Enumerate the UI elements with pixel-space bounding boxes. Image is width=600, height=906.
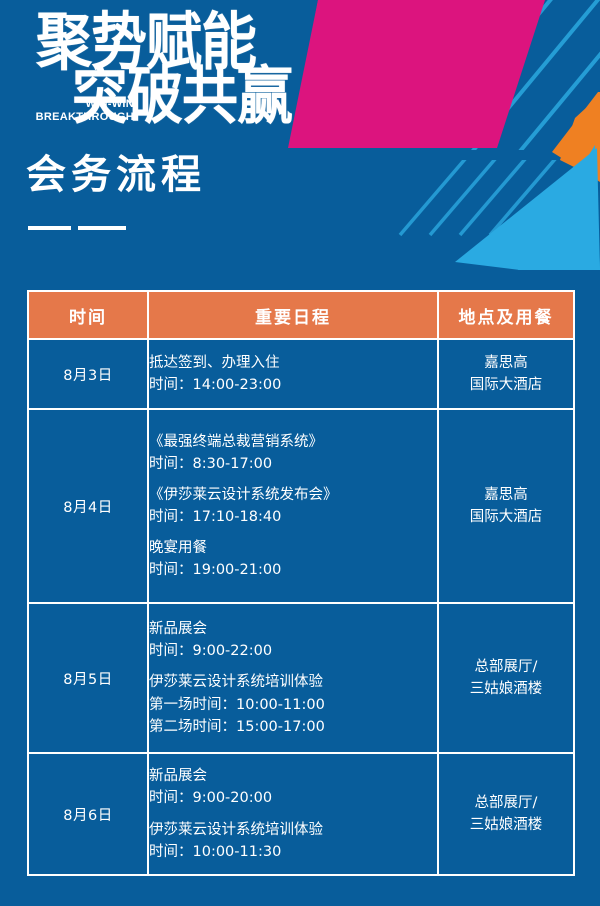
agenda-group: 《最强终端总裁营销系统》时间：8:30-17:00 [149,431,437,475]
column-header-time: 时间 [28,291,148,339]
agenda-line: 《伊莎莱云设计系统发布会》 [149,484,437,506]
cell-agenda: 《最强终端总裁营销系统》时间：8:30-17:00《伊莎莱云设计系统发布会》时间… [148,409,438,603]
cell-date: 8月3日 [28,339,148,409]
agenda-group: 抵达签到、办理入住时间：14:00-23:00 [149,352,437,396]
page-title: 会务流程 [26,155,206,195]
agenda-line: 时间：19:00-21:00 [149,559,437,581]
venue-line: 国际大酒店 [439,374,573,396]
agenda-line: 抵达签到、办理入住 [149,352,437,374]
agenda-line: 新品展会 [149,765,437,787]
agenda-line: 时间：9:00-22:00 [149,640,437,662]
agenda-group: 伊莎莱云设计系统培训体验第一场时间：10:00-11:00第二场时间：15:00… [149,671,437,737]
cell-venue: 总部展厅/三姑娘酒楼 [438,753,574,875]
logo-english-tagline: WIN-WIN BREAKTHROUGH [34,98,134,124]
table-header-row: 时间 重要日程 地点及用餐 [28,291,574,339]
logo-english-line-2: BREAKTHROUGH [34,111,134,124]
cell-agenda: 抵达签到、办理入住时间：14:00-23:00 [148,339,438,409]
agenda-line: 时间：17:10-18:40 [149,506,437,528]
column-header-venue: 地点及用餐 [438,291,574,339]
event-logo: 聚势赋能 突破共赢 WIN-WIN BREAKTHROUGH [26,14,326,134]
agenda-group: 新品展会时间：9:00-20:00 [149,765,437,809]
agenda-line: 伊莎莱云设计系统培训体验 [149,819,437,841]
schedule-table: 时间 重要日程 地点及用餐 8月3日抵达签到、办理入住时间：14:00-23:0… [27,290,575,876]
cell-venue: 总部展厅/三姑娘酒楼 [438,603,574,753]
agenda-line: 第二场时间：15:00-17:00 [149,716,437,738]
agenda-group: 新品展会时间：9:00-22:00 [149,618,437,662]
venue-line: 嘉思高 [439,352,573,374]
venue-line: 总部展厅/ [439,792,573,814]
cell-agenda: 新品展会时间：9:00-22:00伊莎莱云设计系统培训体验第一场时间：10:00… [148,603,438,753]
agenda-line: 新品展会 [149,618,437,640]
venue-line: 国际大酒店 [439,506,573,528]
title-underline-rule [28,226,126,230]
venue-line: 三姑娘酒楼 [439,814,573,836]
agenda-line: 晚宴用餐 [149,537,437,559]
venue-line: 嘉思高 [439,484,573,506]
table-row: 8月4日《最强终端总裁营销系统》时间：8:30-17:00《伊莎莱云设计系统发布… [28,409,574,603]
agenda-line: 伊莎莱云设计系统培训体验 [149,671,437,693]
column-header-agenda: 重要日程 [148,291,438,339]
schedule-table-head: 时间 重要日程 地点及用餐 [28,291,574,339]
cell-venue: 嘉思高国际大酒店 [438,339,574,409]
agenda-group: 晚宴用餐时间：19:00-21:00 [149,537,437,581]
table-row: 8月5日新品展会时间：9:00-22:00伊莎莱云设计系统培训体验第一场时间：1… [28,603,574,753]
agenda-line: 时间：9:00-20:00 [149,787,437,809]
table-row: 8月3日抵达签到、办理入住时间：14:00-23:00嘉思高国际大酒店 [28,339,574,409]
venue-line: 三姑娘酒楼 [439,678,573,700]
cell-date: 8月5日 [28,603,148,753]
logo-english-line-1: WIN-WIN [34,98,134,111]
agenda-line: 第一场时间：10:00-11:00 [149,694,437,716]
agenda-group: 伊莎莱云设计系统培训体验时间：10:00-11:30 [149,819,437,863]
schedule-table-body: 8月3日抵达签到、办理入住时间：14:00-23:00嘉思高国际大酒店8月4日《… [28,339,574,875]
cell-date: 8月4日 [28,409,148,603]
agenda-line: 时间：10:00-11:30 [149,841,437,863]
agenda-line: 时间：8:30-17:00 [149,453,437,475]
cell-date: 8月6日 [28,753,148,875]
cell-agenda: 新品展会时间：9:00-20:00伊莎莱云设计系统培训体验时间：10:00-11… [148,753,438,875]
venue-line: 总部展厅/ [439,656,573,678]
table-row: 8月6日新品展会时间：9:00-20:00伊莎莱云设计系统培训体验时间：10:0… [28,753,574,875]
agenda-line: 时间：14:00-23:00 [149,374,437,396]
cell-venue: 嘉思高国际大酒店 [438,409,574,603]
agenda-line: 《最强终端总裁营销系统》 [149,431,437,453]
agenda-group: 《伊莎莱云设计系统发布会》时间：17:10-18:40 [149,484,437,528]
